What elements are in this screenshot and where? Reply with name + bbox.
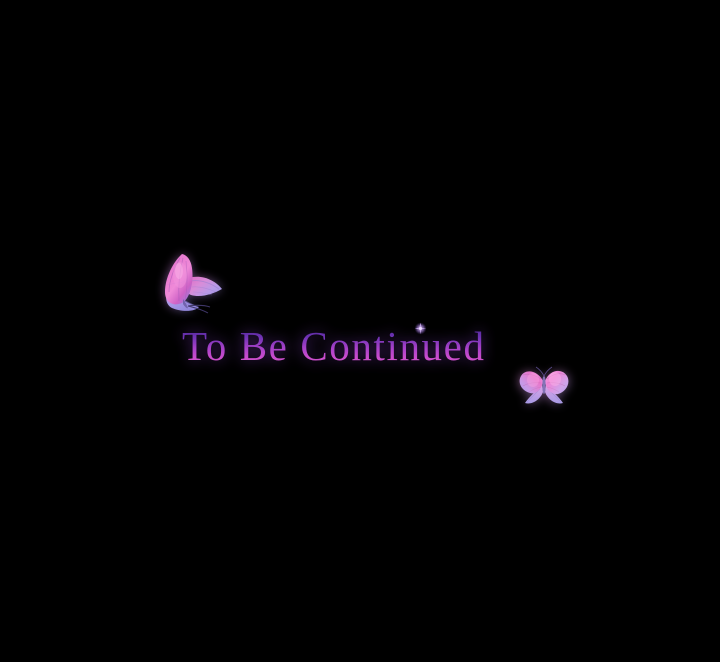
butterfly-wings-icon [152,249,228,315]
end-card-canvas: To Be Continued To Be Continued [0,0,720,662]
butterfly-glow-icon [152,249,228,315]
butterfly-icon [152,249,228,315]
page-title: To Be Continued [182,318,542,374]
title-container: To Be Continued To Be Continued [182,318,542,374]
